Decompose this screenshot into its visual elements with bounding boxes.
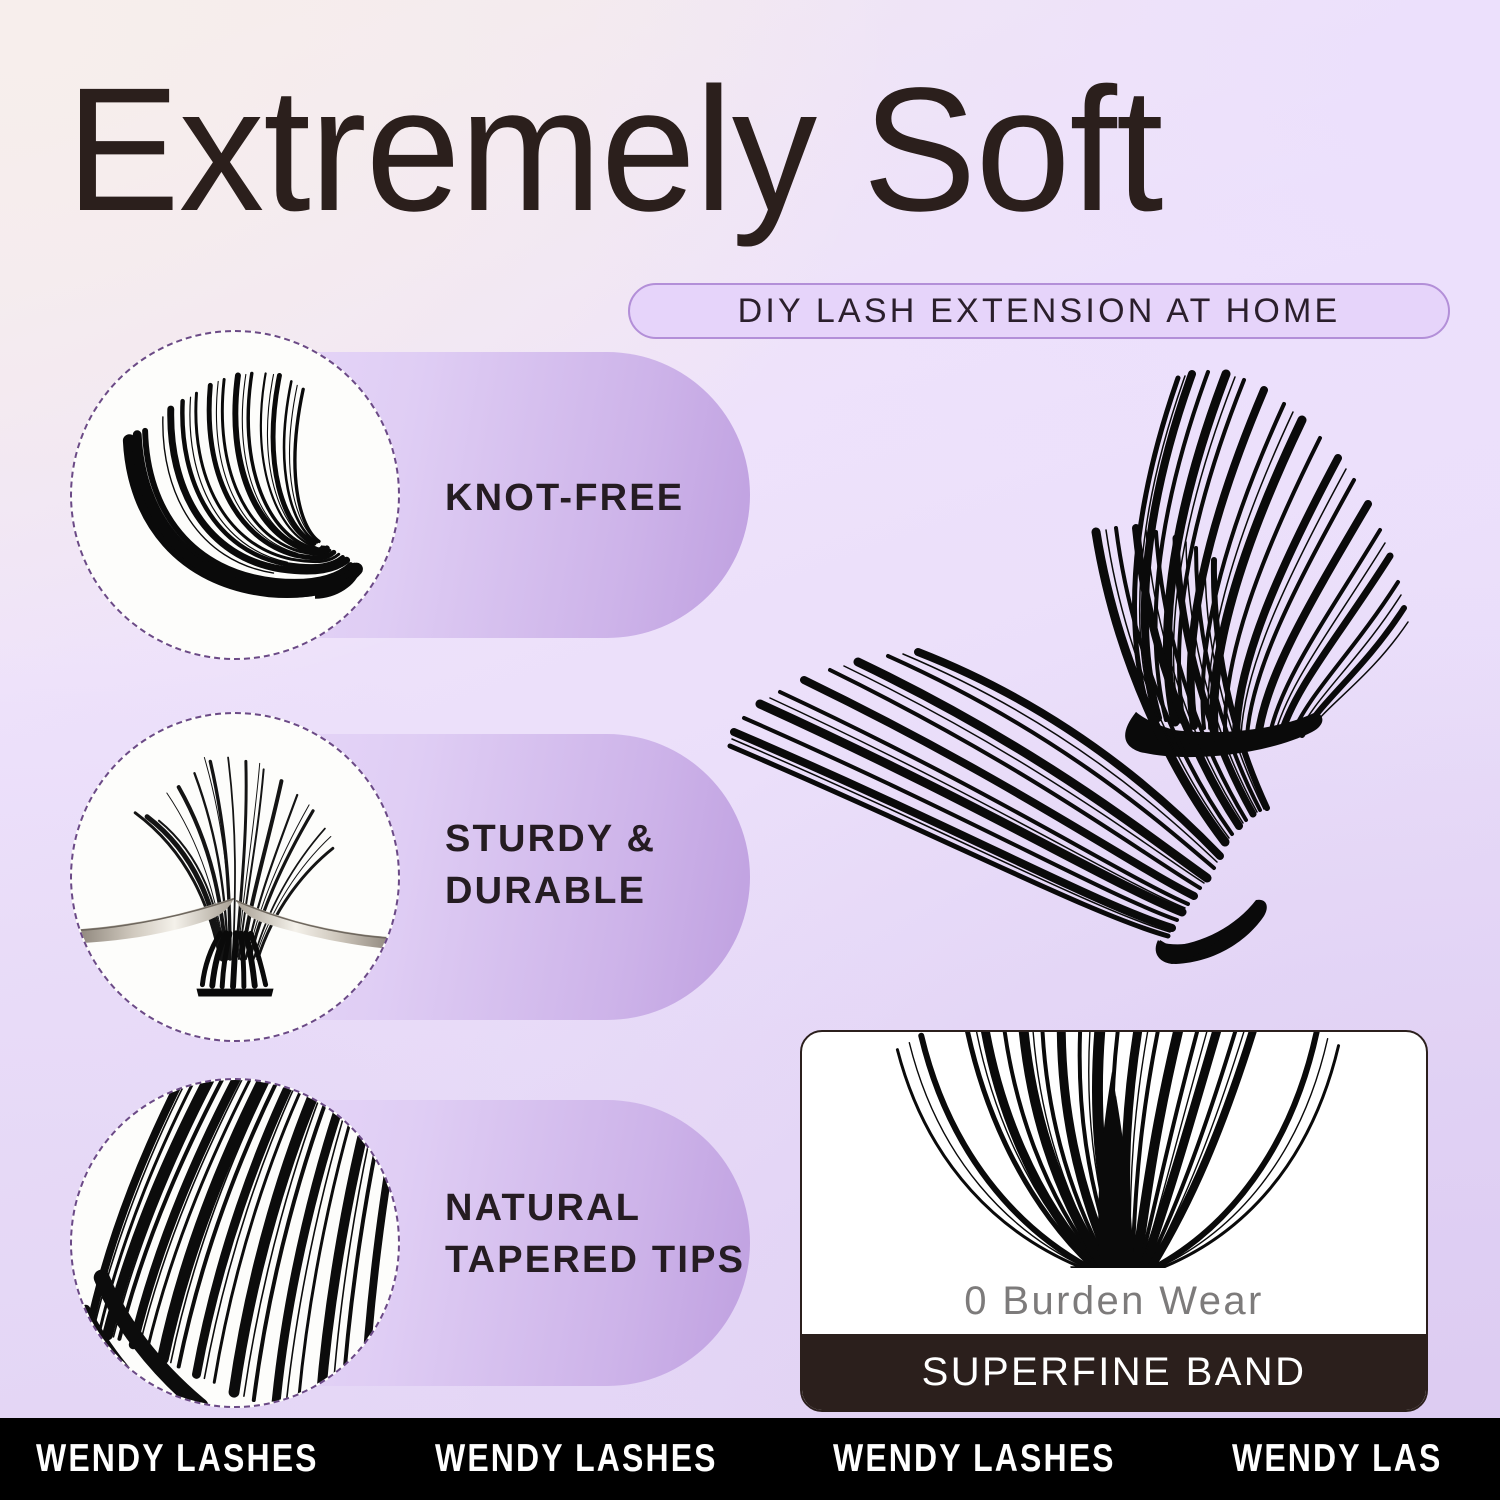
feature-label-line1: KNOT-FREE bbox=[445, 477, 684, 519]
two-lash-clusters-icon bbox=[720, 340, 1480, 1000]
watermark-strip: WENDY LASHES WENDY LASHES WENDY LASHES W… bbox=[0, 1418, 1500, 1500]
watermark-text: WENDY LASHES bbox=[833, 1437, 1116, 1481]
feature-image-knot-free bbox=[70, 330, 400, 660]
band-card-caption: 0 Burden Wear bbox=[802, 1268, 1426, 1334]
feature-image-sturdy-durable bbox=[70, 712, 400, 1042]
page-title: Extremely Soft bbox=[66, 62, 1424, 238]
tapered-fiber-macro-icon bbox=[72, 1080, 398, 1406]
watermark-text: WENDY LAS bbox=[1232, 1437, 1442, 1481]
subtitle-label: DIY LASH EXTENSION AT HOME bbox=[738, 292, 1341, 331]
band-card-footer-label: SUPERFINE BAND bbox=[802, 1334, 1426, 1410]
lash-cluster-curl-icon bbox=[72, 332, 398, 658]
feature-image-natural-tapered-tips bbox=[70, 1078, 400, 1408]
superfine-band-card: 0 Burden Wear SUPERFINE BAND bbox=[800, 1030, 1428, 1412]
feature-label: NATURAL TAPERED TIPS bbox=[445, 1183, 785, 1286]
subtitle-badge: DIY LASH EXTENSION AT HOME bbox=[628, 283, 1450, 339]
feature-row-knot-free: KNOT-FREE bbox=[70, 330, 750, 660]
band-card-image bbox=[802, 1032, 1426, 1268]
feature-row-sturdy-durable: STURDY & DURABLE bbox=[70, 712, 750, 1042]
watermark-text: WENDY LASHES bbox=[36, 1437, 319, 1481]
hero-image bbox=[720, 340, 1480, 1000]
feature-label-line1: NATURAL bbox=[445, 1187, 641, 1229]
feature-row-natural-tapered-tips: NATURAL TAPERED TIPS bbox=[70, 1078, 750, 1408]
tweezers-holding-lash-icon bbox=[72, 714, 398, 1040]
poster-canvas: Extremely Soft DIY LASH EXTENSION AT HOM… bbox=[0, 0, 1500, 1500]
watermark-text: WENDY LASHES bbox=[435, 1437, 718, 1481]
feature-label-line1: STURDY & bbox=[445, 818, 656, 860]
feature-label-line2: TAPERED TIPS bbox=[445, 1235, 785, 1287]
